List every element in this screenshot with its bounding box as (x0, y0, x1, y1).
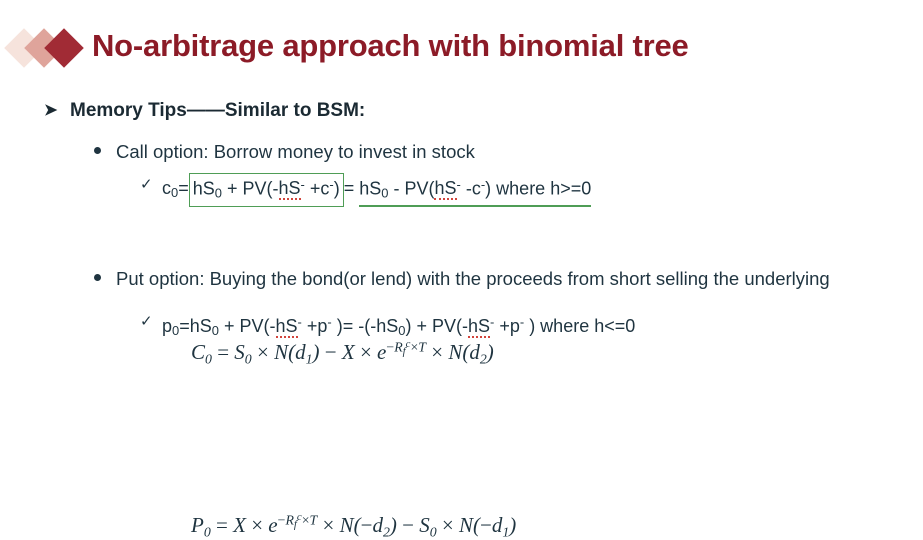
memory-tips-label: Memory Tips——Similar to BSM: (70, 100, 365, 121)
put-equation: P0 = X × e−Rfc×T × N(−d2) − S0 × N(−d1) (191, 511, 516, 540)
arrow-bullet-icon: ➤ (44, 98, 57, 124)
put-option-text: Put option: Buying the bond(or lend) wit… (116, 268, 830, 289)
call-formula: c0=hS0 + PV(-hS- +c-)= hS0 - PV(hS- -c-)… (162, 178, 591, 198)
slide: No-arbitrage approach with binomial tree… (0, 0, 923, 475)
call-underlined-expression: hS0 - PV(hS- -c-) where h>=0 (359, 175, 591, 207)
check-bullet-icon: ✓ (140, 172, 153, 198)
diamond-decoration (18, 34, 78, 62)
call-option-bullet: Call option: Borrow money to invest in s… (92, 138, 876, 165)
call-formula-line: ✓ c0=hS0 + PV(-hS- +c-)= hS0 - PV(hS- -c… (140, 173, 923, 207)
title-row: No-arbitrage approach with binomial tree (18, 28, 689, 64)
check-bullet-icon: ✓ (140, 309, 153, 335)
put-option-bullet: Put option: Buying the bond(or lend) wit… (92, 265, 876, 292)
put-formula-line: ✓ p0=hS0 + PV(-hS- +p- )= -(-hS0) + PV(-… (140, 310, 923, 345)
call-option-text: Call option: Borrow money to invest in s… (116, 141, 475, 162)
dot-bullet-icon (94, 147, 101, 154)
call-boxed-expression: hS0 + PV(-hS- +c-) (189, 173, 344, 207)
put-formula: p0=hS0 + PV(-hS- +p- )= -(-hS0) + PV(-hS… (162, 316, 635, 336)
dot-bullet-icon (94, 274, 101, 281)
slide-body: ➤ Memory Tips——Similar to BSM: Call opti… (0, 98, 923, 344)
page-title: No-arbitrage approach with binomial tree (92, 28, 689, 64)
memory-tips-heading: ➤ Memory Tips——Similar to BSM: (44, 98, 923, 124)
